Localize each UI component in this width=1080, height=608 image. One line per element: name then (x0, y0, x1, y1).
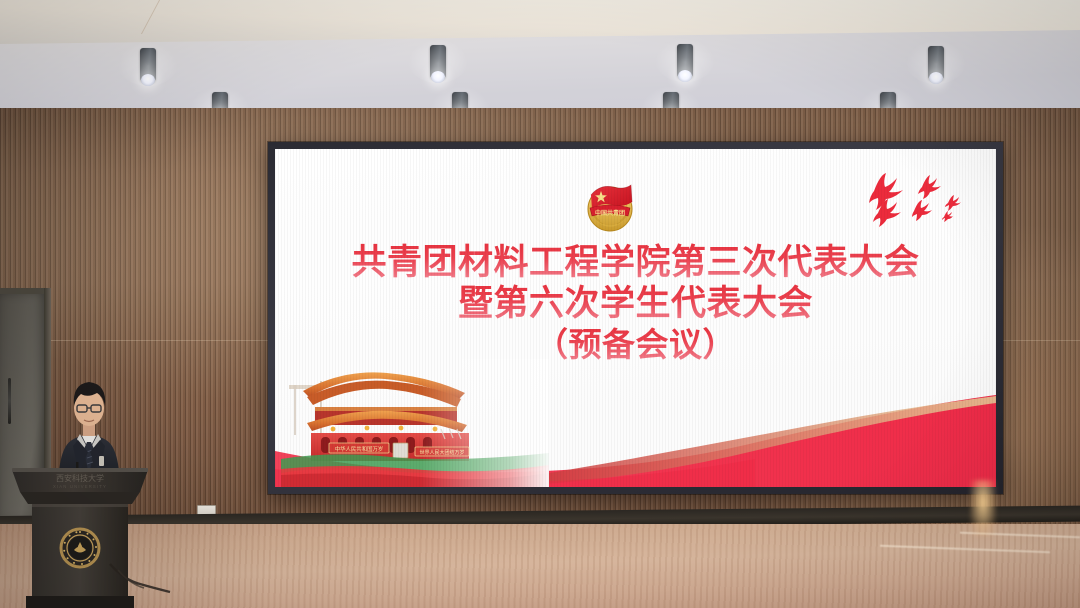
flying-doves-icon (856, 167, 966, 231)
light-lens (431, 71, 445, 83)
svg-text:中华人民共和国万岁: 中华人民共和国万岁 (335, 445, 384, 453)
photo-scene: 中国共青团 (0, 0, 1080, 608)
ceiling (0, 0, 1080, 118)
slide-title-line-1: 共青团材料工程学院第三次代表大会 (275, 243, 996, 284)
light-lens (929, 72, 943, 84)
light-housing (430, 45, 446, 79)
podium-text-en: XIAN UNIVERSITY (53, 484, 107, 489)
light-housing (677, 44, 693, 78)
slide-title-line-2: 暨第六次学生代表大会 (275, 284, 996, 325)
ceiling-downlight (677, 44, 693, 78)
led-display-surface[interactable]: 中国共青团 (275, 149, 996, 487)
door-handle[interactable] (8, 378, 11, 424)
light-housing (928, 46, 944, 80)
podium-text-cn: 西安科技大学 (56, 473, 104, 483)
ceiling-downlight (140, 48, 156, 82)
tiananmen-gate-illustration: 中华人民共和国万岁 世界人民大团结万岁 (281, 359, 549, 487)
light-lens (141, 74, 155, 86)
floor-cable (108, 560, 178, 594)
light-lens (678, 70, 692, 82)
slide-title-block: 共青团材料工程学院第三次代表大会 暨第六次学生代表大会 （预备会议） (275, 243, 996, 365)
svg-text:中国共青团: 中国共青团 (595, 209, 625, 217)
communist-youth-league-emblem: 中国共青团 (577, 171, 643, 235)
ceiling-downlight (928, 46, 944, 80)
wall-light-hotspot (970, 480, 996, 536)
light-housing (140, 48, 156, 82)
led-display-frame: 中国共青团 (268, 142, 1003, 494)
ceiling-downlight (430, 45, 446, 79)
